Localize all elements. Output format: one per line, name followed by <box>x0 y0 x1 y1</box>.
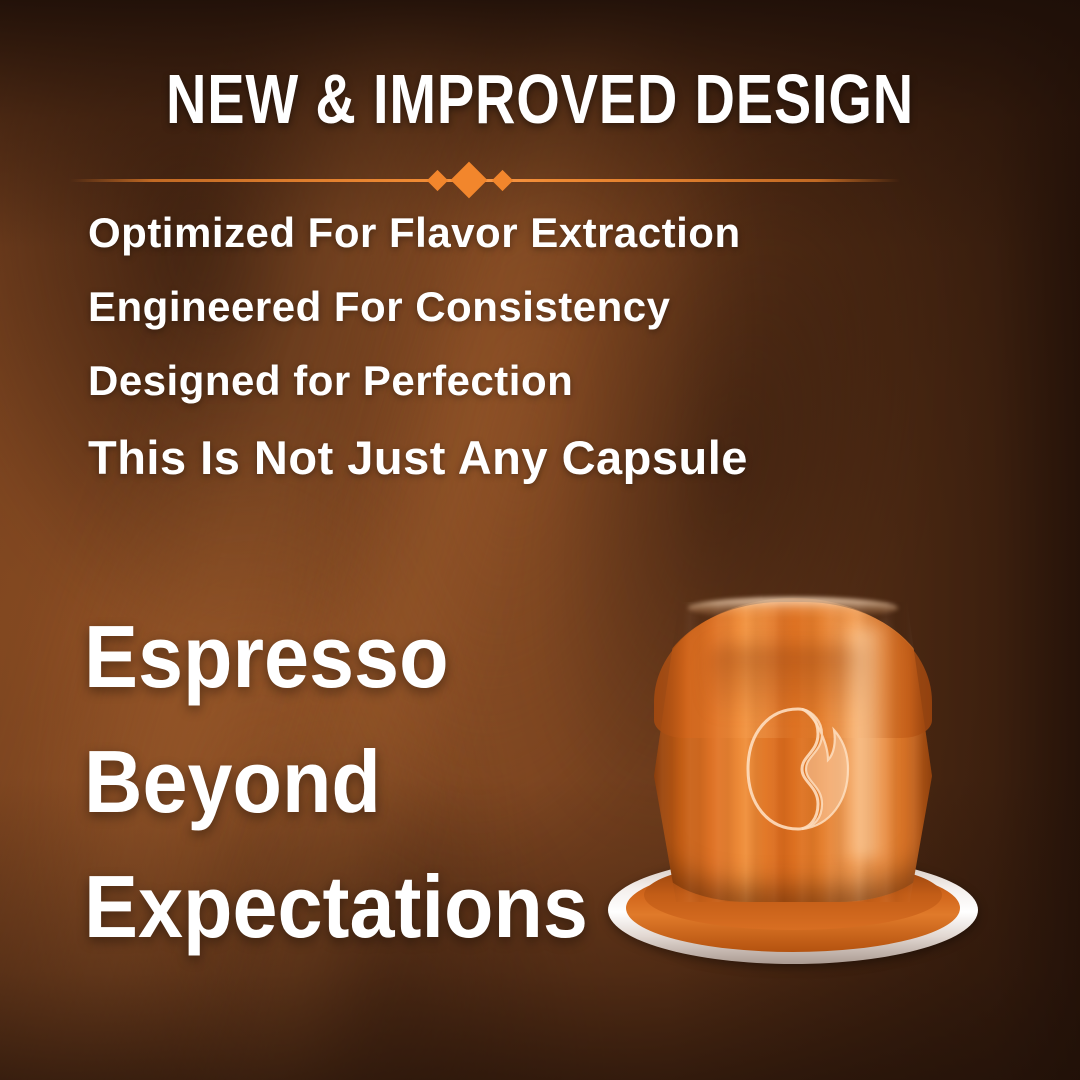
page-title: NEW & IMPROVED DESIGN <box>108 64 972 134</box>
capsule-top-rim-highlight <box>688 597 898 619</box>
slogan-line-1: Espresso <box>84 594 588 719</box>
feature-item-1: Optimized For Flavor Extraction <box>88 212 748 254</box>
feature-item-2: Engineered For Consistency <box>88 286 748 328</box>
diamond-small-right-icon <box>492 170 513 191</box>
coffee-bean-flame-icon <box>744 706 852 832</box>
diamond-large-center-icon <box>451 162 488 199</box>
slogan-line-2: Beyond <box>84 719 588 844</box>
feature-item-3: Designed for Perfection <box>88 360 748 402</box>
feature-item-4: This Is Not Just Any Capsule <box>88 434 748 481</box>
product-image-coffee-capsule <box>592 588 992 978</box>
promo-poster: NEW & IMPROVED DESIGN Optimized For Flav… <box>0 0 1080 1080</box>
feature-list: Optimized For Flavor Extraction Engineer… <box>88 212 748 481</box>
slogan-line-3: Expectations <box>84 844 588 969</box>
slogan: Espresso Beyond Expectations <box>84 594 588 969</box>
divider-ornament <box>70 168 900 194</box>
diamond-small-left-icon <box>427 170 448 191</box>
